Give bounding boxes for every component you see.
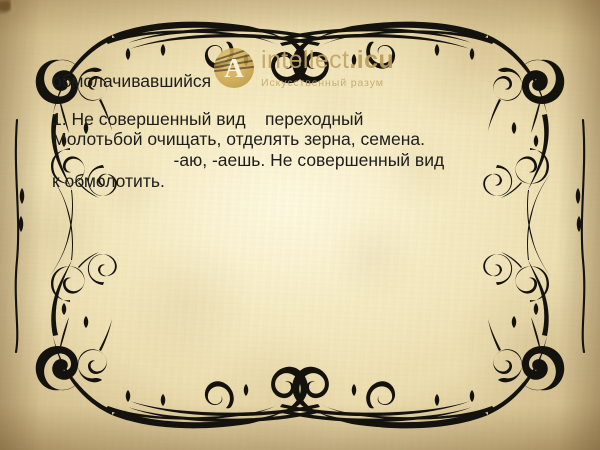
parchment-edge-vignette [0, 0, 600, 450]
slide-canvas: A intellect.icu Искусственный разум обмо… [0, 0, 600, 450]
